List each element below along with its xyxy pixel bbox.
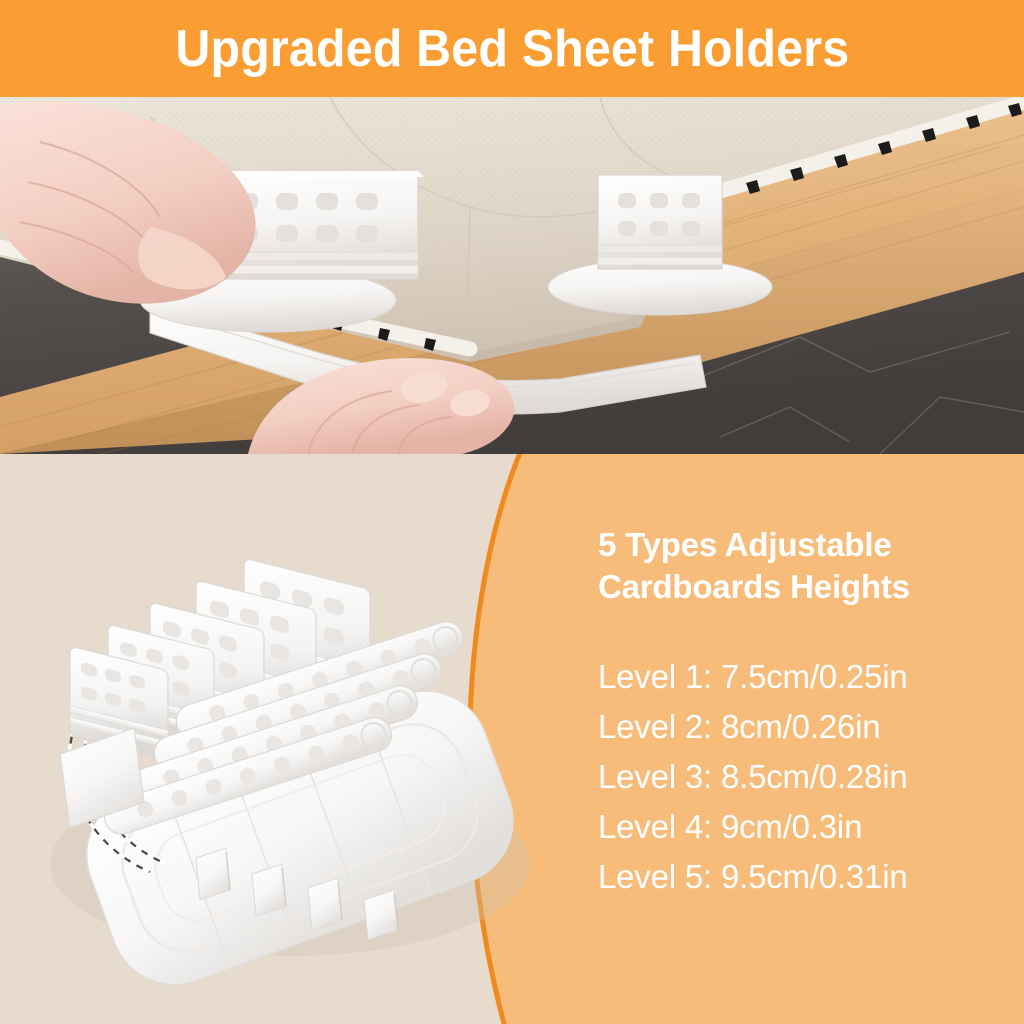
level-item-3: Level 3: 8.5cm/0.28in — [598, 752, 1018, 802]
page-title: Upgraded Bed Sheet Holders — [175, 23, 849, 75]
feature-section: 5 Types Adjustable Cardboards Heights Le… — [0, 454, 1024, 1024]
header-banner: Upgraded Bed Sheet Holders — [0, 0, 1024, 97]
panel-heading: 5 Types Adjustable Cardboards Heights — [598, 524, 1018, 608]
level-list: Level 1: 7.5cm/0.25in Level 2: 8cm/0.26i… — [598, 652, 1018, 902]
feature-text-panel: 5 Types Adjustable Cardboards Heights Le… — [598, 524, 1018, 902]
level-item-1: Level 1: 7.5cm/0.25in — [598, 652, 1018, 702]
level-item-4: Level 4: 9cm/0.3in — [598, 802, 1018, 852]
level-item-5: Level 5: 9.5cm/0.31in — [598, 852, 1018, 902]
panel-heading-line-2: Cardboards Heights — [598, 566, 1018, 608]
level-item-2: Level 2: 8cm/0.26in — [598, 702, 1018, 752]
panel-heading-line-1: 5 Types Adjustable — [598, 524, 1018, 566]
lifestyle-photo-illustration — [0, 97, 1024, 454]
product-infographic: Upgraded Bed Sheet Holders — [0, 0, 1024, 1024]
lifestyle-photo — [0, 97, 1024, 454]
